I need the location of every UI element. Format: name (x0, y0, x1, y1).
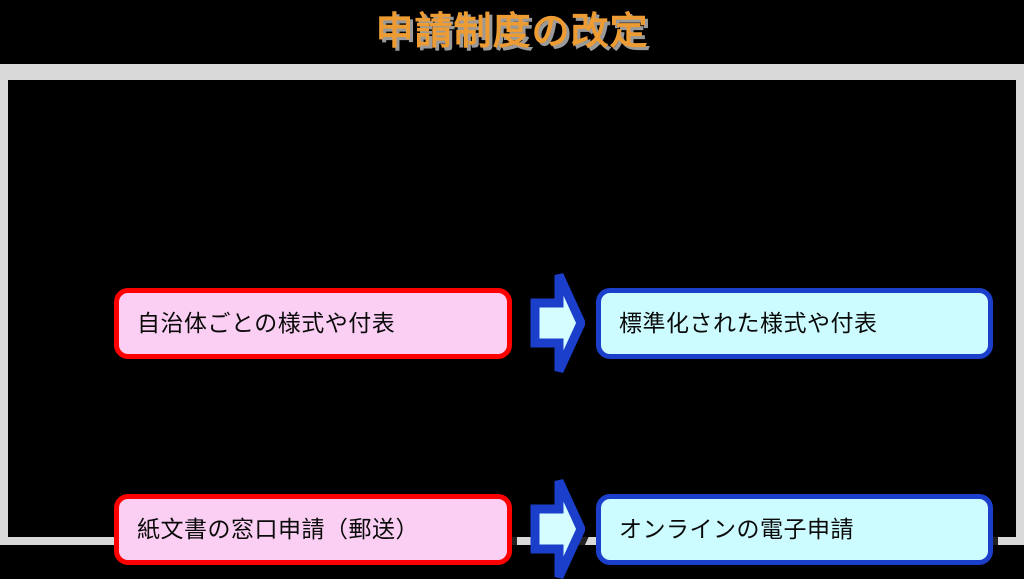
before-box-row-1[interactable]: 自治体ごとの様式や付表 (114, 288, 512, 359)
right-arrow-icon (529, 273, 585, 373)
right-arrow-icon (529, 479, 585, 579)
before-box-row-1-label: 自治体ごとの様式や付表 (119, 310, 395, 338)
after-box-row-1-label: 標準化された様式や付表 (601, 310, 878, 338)
title-bar: 申請制度の改定 (0, 0, 1024, 64)
after-box-row-2[interactable]: オンラインの電子申請 (596, 494, 993, 565)
after-box-row-1[interactable]: 標準化された様式や付表 (596, 288, 993, 359)
after-box-row-2-label: オンラインの電子申請 (601, 516, 854, 544)
before-box-row-2-label: 紙文書の窓口申請（郵送） (119, 516, 419, 544)
slide-root: 申請制度の改定 自治体ごとの様式や付表 標準化された様式や付表 紙文書の窓口申請… (0, 0, 1024, 545)
diagram-canvas: 自治体ごとの様式や付表 標準化された様式や付表 紙文書の窓口申請（郵送） オンラ… (8, 80, 1016, 537)
before-box-row-2[interactable]: 紙文書の窓口申請（郵送） (114, 494, 512, 565)
page-title: 申請制度の改定 (0, 8, 1024, 56)
